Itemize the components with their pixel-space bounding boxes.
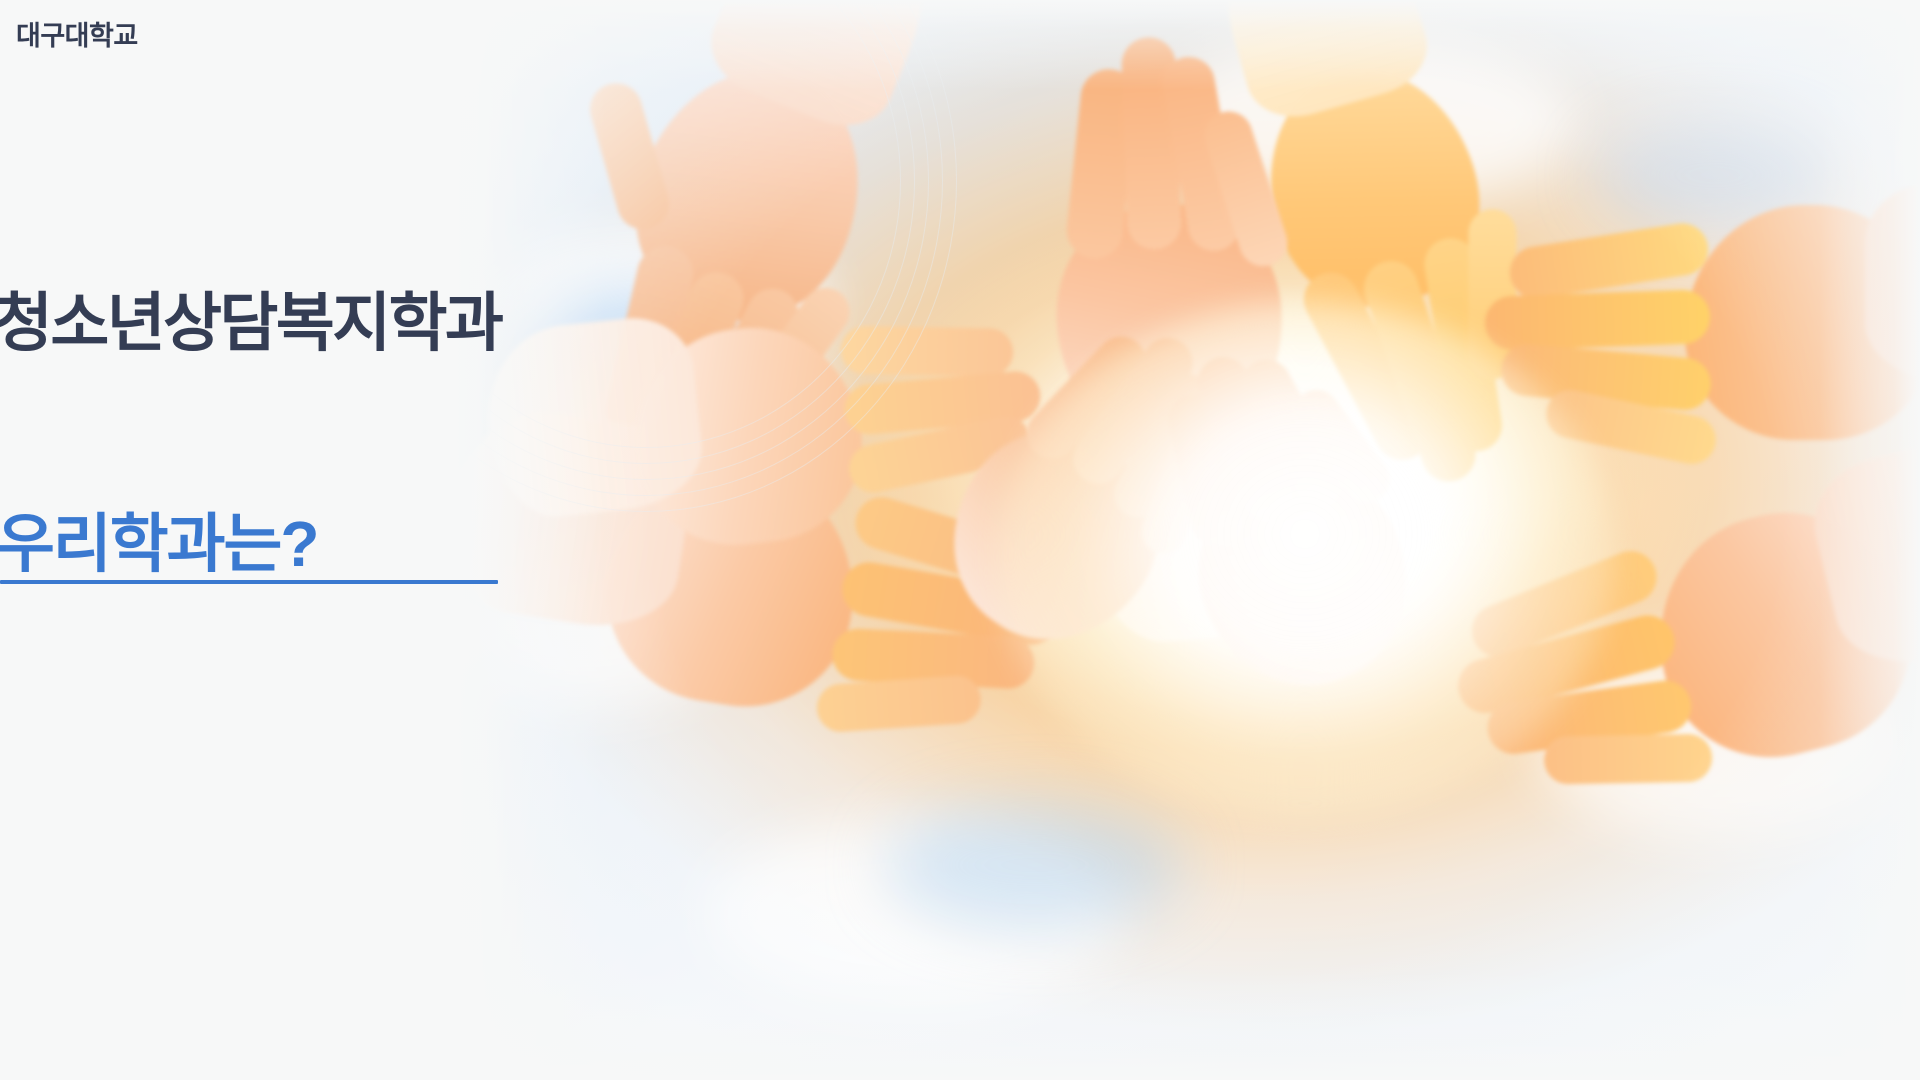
- title-divider: [0, 580, 498, 584]
- page-subtitle: 우리학과는?: [0, 508, 318, 582]
- center-glow: [995, 300, 1615, 820]
- page-title: 청소년상담복지학과: [0, 287, 501, 361]
- hands-circle-photo: [455, 0, 1920, 1080]
- sky-patch: [885, 800, 1185, 930]
- photo-background: [455, 0, 1920, 1080]
- university-logo: 대구대학교: [16, 20, 138, 52]
- slide-root: 대구대학교 청소년상담복지학과 우리학과는?: [0, 0, 1920, 1080]
